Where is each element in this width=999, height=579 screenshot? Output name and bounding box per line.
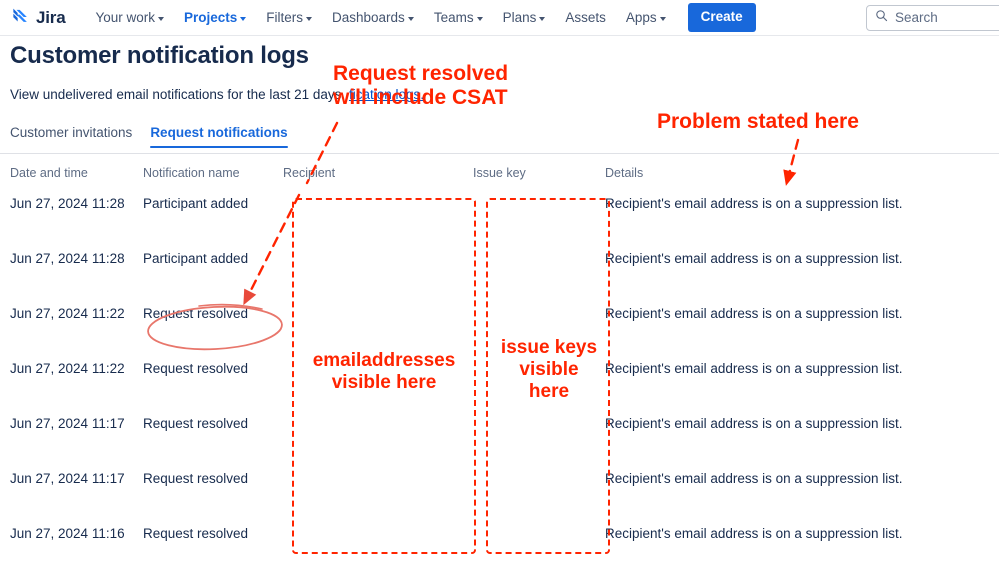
chevron-down-icon xyxy=(240,17,246,21)
cell-issue-key xyxy=(473,249,605,251)
cell-date-and-time: Jun 27, 2024 11:28 xyxy=(0,194,143,211)
cell-recipient xyxy=(283,249,473,251)
cell-issue-key xyxy=(473,469,605,471)
cell-date-and-time: Jun 27, 2024 11:22 xyxy=(0,359,143,376)
table-row[interactable]: Jun 27, 2024 11:16 Request resolved Reci… xyxy=(0,524,999,579)
column-header-issue-key: Issue key xyxy=(473,164,605,180)
cell-issue-key xyxy=(473,524,605,526)
column-header-notification-name: Notification name xyxy=(143,164,283,180)
create-button[interactable]: Create xyxy=(688,3,756,31)
nav-item-label: Dashboards xyxy=(332,10,405,25)
table-row[interactable]: Jun 27, 2024 11:28 Participant added Rec… xyxy=(0,249,999,304)
cell-date-and-time: Jun 27, 2024 11:22 xyxy=(0,304,143,321)
cell-date-and-time: Jun 27, 2024 11:16 xyxy=(0,524,143,541)
nav-item-filters[interactable]: Filters xyxy=(256,5,322,30)
search-input[interactable]: Search xyxy=(866,5,999,31)
cell-details: Recipient's email address is on a suppre… xyxy=(605,194,985,211)
cell-issue-key xyxy=(473,304,605,306)
page-description: View undelivered email notifications for… xyxy=(10,87,424,102)
cell-notification-name: Request resolved xyxy=(143,359,283,376)
cell-details: Recipient's email address is on a suppre… xyxy=(605,249,985,266)
nav-item-projects[interactable]: Projects xyxy=(174,5,256,30)
column-header-date-and-time: Date and time xyxy=(0,164,143,180)
tab-request-notifications[interactable]: Request notifications xyxy=(150,125,287,148)
notification-logs-table: Date and time Notification name Recipien… xyxy=(0,164,999,579)
chevron-down-icon xyxy=(660,17,666,21)
table-row[interactable]: Jun 27, 2024 11:17 Request resolved Reci… xyxy=(0,414,999,469)
search-placeholder: Search xyxy=(895,11,938,25)
nav-item-label: Assets xyxy=(565,10,606,25)
primary-nav-items: Your work Projects Filters Dashboards Te… xyxy=(85,5,675,30)
cell-details: Recipient's email address is on a suppre… xyxy=(605,359,985,376)
cell-notification-name: Request resolved xyxy=(143,524,283,541)
cell-recipient xyxy=(283,359,473,361)
cell-notification-name: Request resolved xyxy=(143,414,283,431)
cell-notification-name: Participant added xyxy=(143,249,283,266)
table-row[interactable]: Jun 27, 2024 11:28 Participant added Rec… xyxy=(0,194,999,249)
cell-issue-key xyxy=(473,414,605,416)
jira-home-link[interactable]: Jira xyxy=(10,8,65,28)
nav-item-label: Projects xyxy=(184,10,237,25)
jira-logo-text: Jira xyxy=(36,9,65,26)
page-content: Customer notification logs View undelive… xyxy=(0,36,999,70)
tab-customer-invitations[interactable]: Customer invitations xyxy=(10,125,132,148)
cell-notification-name: Request resolved xyxy=(143,304,283,321)
nav-item-dashboards[interactable]: Dashboards xyxy=(322,5,424,30)
chevron-down-icon xyxy=(158,17,164,21)
nav-item-teams[interactable]: Teams xyxy=(424,5,493,30)
cell-issue-key xyxy=(473,359,605,361)
table-row[interactable]: Jun 27, 2024 11:22 Request resolved Reci… xyxy=(0,304,999,359)
cell-issue-key xyxy=(473,194,605,196)
cell-details: Recipient's email address is on a suppre… xyxy=(605,414,985,431)
jira-logo-icon xyxy=(10,8,30,28)
nav-item-label: Plans xyxy=(503,10,537,25)
chevron-down-icon xyxy=(477,17,483,21)
chevron-down-icon xyxy=(408,17,414,21)
top-navigation-bar: Jira Your work Projects Filters Dashboar… xyxy=(0,0,999,36)
tab-label: Request notifications xyxy=(150,125,287,140)
nav-item-label: Apps xyxy=(626,10,657,25)
cell-notification-name: Request resolved xyxy=(143,469,283,486)
tabs-divider xyxy=(0,153,999,154)
search-icon xyxy=(875,9,888,27)
cell-date-and-time: Jun 27, 2024 11:17 xyxy=(0,469,143,486)
cell-recipient xyxy=(283,304,473,306)
cell-details: Recipient's email address is on a suppre… xyxy=(605,304,985,321)
table-header-row: Date and time Notification name Recipien… xyxy=(0,164,999,194)
nav-item-assets[interactable]: Assets xyxy=(555,5,616,30)
page-description-text: View undelivered email notifications for… xyxy=(10,87,345,102)
cell-recipient xyxy=(283,524,473,526)
table-row[interactable]: Jun 27, 2024 11:17 Request resolved Reci… xyxy=(0,469,999,524)
nav-item-label: Filters xyxy=(266,10,303,25)
cell-date-and-time: Jun 27, 2024 11:17 xyxy=(0,414,143,431)
nav-item-your-work[interactable]: Your work xyxy=(85,5,174,30)
chevron-down-icon xyxy=(306,17,312,21)
cell-details: Recipient's email address is on a suppre… xyxy=(605,524,985,541)
column-header-details: Details xyxy=(605,164,985,180)
cell-recipient xyxy=(283,194,473,196)
nav-item-label: Teams xyxy=(434,10,474,25)
tab-label: Customer invitations xyxy=(10,125,132,140)
nav-item-apps[interactable]: Apps xyxy=(616,5,676,30)
table-row[interactable]: Jun 27, 2024 11:22 Request resolved Reci… xyxy=(0,359,999,414)
chevron-down-icon xyxy=(539,17,545,21)
cell-recipient xyxy=(283,469,473,471)
nav-item-label: Your work xyxy=(95,10,155,25)
page-title: Customer notification logs xyxy=(10,42,999,70)
nav-item-plans[interactable]: Plans xyxy=(493,5,556,30)
cell-date-and-time: Jun 27, 2024 11:28 xyxy=(0,249,143,266)
column-header-recipient: Recipient xyxy=(283,164,473,180)
cell-details: Recipient's email address is on a suppre… xyxy=(605,469,985,486)
notification-logs-link[interactable]: fication logs. xyxy=(349,87,424,102)
cell-recipient xyxy=(283,414,473,416)
cell-notification-name: Participant added xyxy=(143,194,283,211)
annotation-problem-note: Problem stated here xyxy=(657,110,859,134)
tab-list: Customer invitations Request notificatio… xyxy=(10,125,288,148)
